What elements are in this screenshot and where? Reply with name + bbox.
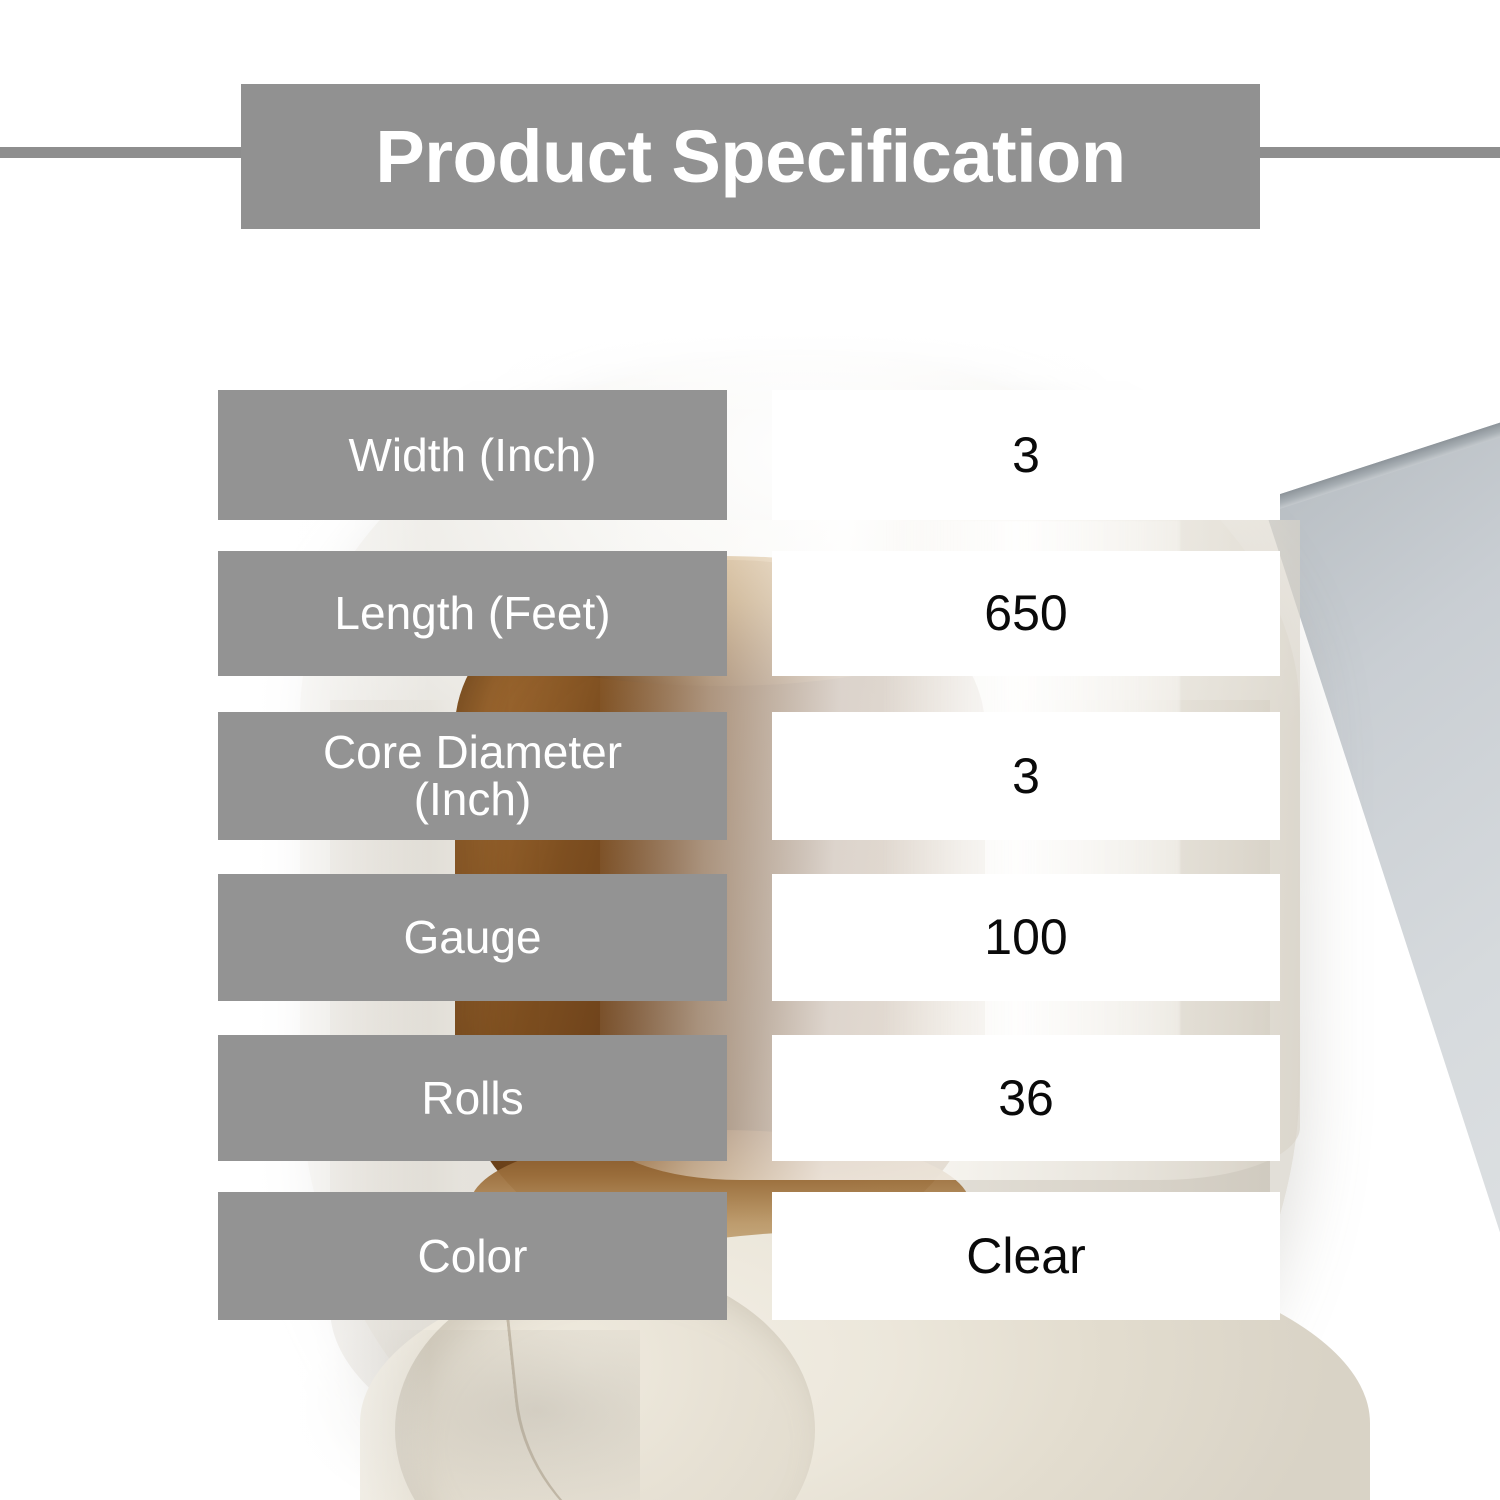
spec-label: Core Diameter(Inch): [218, 712, 727, 840]
spec-label: Gauge: [218, 874, 727, 1001]
spec-value: 3: [772, 712, 1280, 840]
spec-label: Rolls: [218, 1035, 727, 1161]
spec-label: Length (Feet): [218, 551, 727, 676]
specification-table: Width (Inch)3Length (Feet)650Core Diamet…: [0, 0, 1500, 1500]
spec-row: Rolls36: [0, 1035, 1500, 1161]
spec-value: 650: [772, 551, 1280, 676]
spec-label: Width (Inch): [218, 390, 727, 520]
product-specification-page: Product Specification Width (Inch)3Lengt…: [0, 0, 1500, 1500]
spec-value: 3: [772, 390, 1280, 520]
spec-row: Core Diameter(Inch)3: [0, 712, 1500, 840]
spec-label: Color: [218, 1192, 727, 1320]
spec-row: Width (Inch)3: [0, 390, 1500, 520]
spec-row: Gauge100: [0, 874, 1500, 1001]
spec-row: Length (Feet)650: [0, 551, 1500, 676]
spec-value: 100: [772, 874, 1280, 1001]
spec-row: ColorClear: [0, 1192, 1500, 1320]
spec-value: Clear: [772, 1192, 1280, 1320]
spec-value: 36: [772, 1035, 1280, 1161]
